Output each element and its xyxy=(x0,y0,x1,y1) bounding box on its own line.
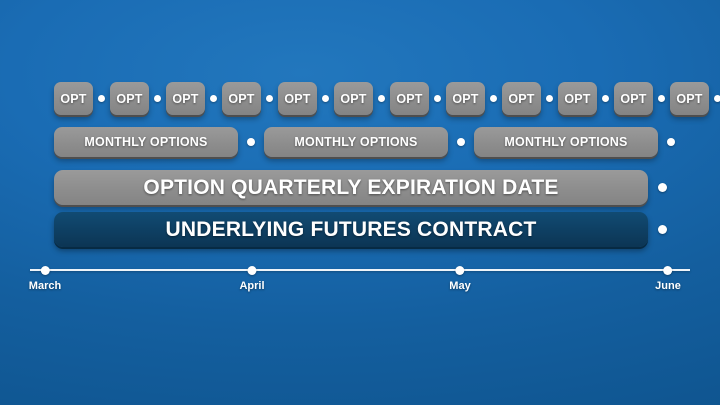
weekly-option-marker-dot xyxy=(98,95,105,102)
weekly-option-marker-dot xyxy=(266,95,273,102)
weekly-option-marker-dot xyxy=(658,95,665,102)
timeline-tick-dot xyxy=(456,266,465,275)
month-timeline: MarchAprilMayJune xyxy=(0,262,720,307)
weekly-option-box: OPT xyxy=(110,82,149,115)
monthly-options-bar: MONTHLY OPTIONS xyxy=(264,127,448,157)
monthly-options-row: MONTHLY OPTIONSMONTHLY OPTIONSMONTHLY OP… xyxy=(0,127,720,157)
weekly-option-marker-dot xyxy=(434,95,441,102)
futures-end-marker-dot xyxy=(658,225,667,234)
weekly-option-box: OPT xyxy=(390,82,429,115)
weekly-option-box: OPT xyxy=(278,82,317,115)
monthly-options-marker-dot xyxy=(457,138,465,146)
weekly-option-box: OPT xyxy=(502,82,541,115)
timeline-tick-dot xyxy=(41,266,50,275)
option-quarterly-expiration-row: OPTION QUARTERLY EXPIRATION DATE xyxy=(0,170,720,205)
monthly-options-bar: MONTHLY OPTIONS xyxy=(474,127,658,157)
weekly-option-box: OPT xyxy=(670,82,709,115)
monthly-options-marker-dot xyxy=(667,138,675,146)
timeline-axis-line xyxy=(30,269,690,271)
timeline-tick: March xyxy=(29,262,61,292)
monthly-options-bar: MONTHLY OPTIONS xyxy=(54,127,238,157)
weekly-option-box: OPT xyxy=(446,82,485,115)
timeline-tick-label: April xyxy=(239,280,264,292)
weekly-option-marker-dot xyxy=(210,95,217,102)
weekly-option-marker-dot xyxy=(714,95,720,102)
weekly-option-box: OPT xyxy=(166,82,205,115)
expiration-timeline-diagram: OPTOPTOPTOPTOPTOPTOPTOPTOPTOPTOPTOPT MON… xyxy=(0,0,720,405)
weekly-options-row: OPTOPTOPTOPTOPTOPTOPTOPTOPTOPTOPTOPT xyxy=(0,82,720,115)
weekly-option-box: OPT xyxy=(222,82,261,115)
underlying-futures-contract-bar: UNDERLYING FUTURES CONTRACT xyxy=(54,212,648,247)
quarterly-end-marker-dot xyxy=(658,183,667,192)
monthly-options-marker-dot xyxy=(247,138,255,146)
timeline-tick: May xyxy=(449,262,470,292)
weekly-option-marker-dot xyxy=(490,95,497,102)
weekly-option-box: OPT xyxy=(54,82,93,115)
timeline-tick-dot xyxy=(248,266,257,275)
weekly-option-marker-dot xyxy=(602,95,609,102)
weekly-option-box: OPT xyxy=(614,82,653,115)
weekly-option-marker-dot xyxy=(154,95,161,102)
timeline-tick-dot xyxy=(664,266,673,275)
weekly-option-box: OPT xyxy=(558,82,597,115)
weekly-option-marker-dot xyxy=(322,95,329,102)
weekly-option-marker-dot xyxy=(378,95,385,102)
timeline-tick: June xyxy=(655,262,681,292)
timeline-tick-label: March xyxy=(29,280,61,292)
weekly-option-box: OPT xyxy=(334,82,373,115)
option-quarterly-expiration-bar: OPTION QUARTERLY EXPIRATION DATE xyxy=(54,170,648,205)
weekly-option-marker-dot xyxy=(546,95,553,102)
underlying-futures-contract-row: UNDERLYING FUTURES CONTRACT xyxy=(0,212,720,247)
timeline-tick-label: May xyxy=(449,280,470,292)
timeline-tick-label: June xyxy=(655,280,681,292)
timeline-tick: April xyxy=(239,262,264,292)
